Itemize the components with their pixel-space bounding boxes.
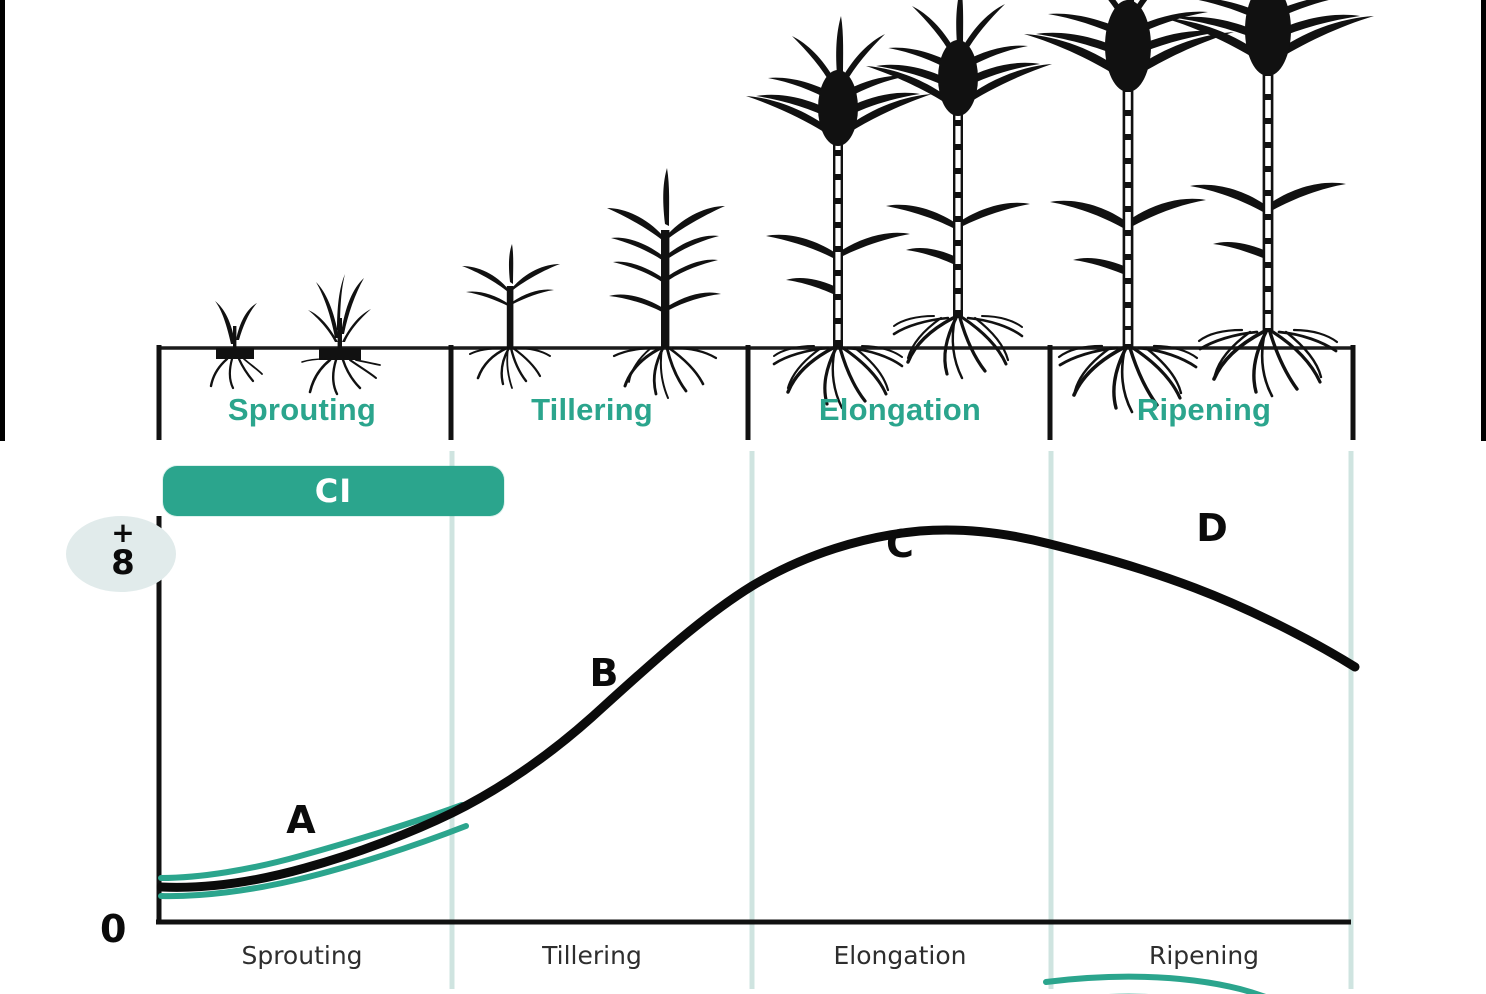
plant-tillering-2 xyxy=(607,168,725,398)
plant-tillering-1 xyxy=(462,244,560,388)
x-label-ripening: Ripening xyxy=(1149,941,1259,970)
plant-sprouting-1 xyxy=(211,301,262,388)
x-label-elongation: Elongation xyxy=(834,941,967,970)
y-axis-max-value: 8 xyxy=(96,546,150,580)
segment-letter-d: D xyxy=(1196,506,1228,550)
x-label-tillering: Tillering xyxy=(542,941,642,970)
growth-stage-illustration xyxy=(0,0,1486,441)
growth-stage-panel: Sprouting Tillering Elongation Ripening xyxy=(0,0,1486,441)
stage-label-elongation: Elongation xyxy=(819,392,981,428)
ci-upper-ripening xyxy=(1046,977,1358,994)
x-label-sprouting: Sprouting xyxy=(241,941,362,970)
stage-label-sprouting: Sprouting xyxy=(228,392,376,428)
segment-letter-c: C xyxy=(886,522,914,566)
y-axis-max-label: + 8 xyxy=(96,520,150,580)
plant-elongation-2 xyxy=(866,0,1052,378)
stage-label-ripening: Ripening xyxy=(1137,392,1271,428)
ci-legend-badge[interactable]: CI xyxy=(163,466,504,516)
y-axis-zero-label: 0 xyxy=(100,907,126,951)
segment-letter-b: B xyxy=(590,651,619,695)
growth-curve-chart: CI + 8 0 A B C D Sprouting Tillering Elo… xyxy=(0,441,1486,994)
stage-label-tillering: Tillering xyxy=(531,392,653,428)
growth-curve-line xyxy=(161,530,1355,887)
figure-root: Sprouting Tillering Elongation Ripening xyxy=(0,0,1486,994)
segment-letter-a: A xyxy=(286,798,315,842)
plant-sprouting-2 xyxy=(302,274,380,394)
chart-plot-area xyxy=(0,441,1486,994)
plant-ripening-2 xyxy=(1164,0,1374,396)
plant-ripening-1 xyxy=(1024,0,1234,412)
ci-legend-label: CI xyxy=(315,472,352,510)
